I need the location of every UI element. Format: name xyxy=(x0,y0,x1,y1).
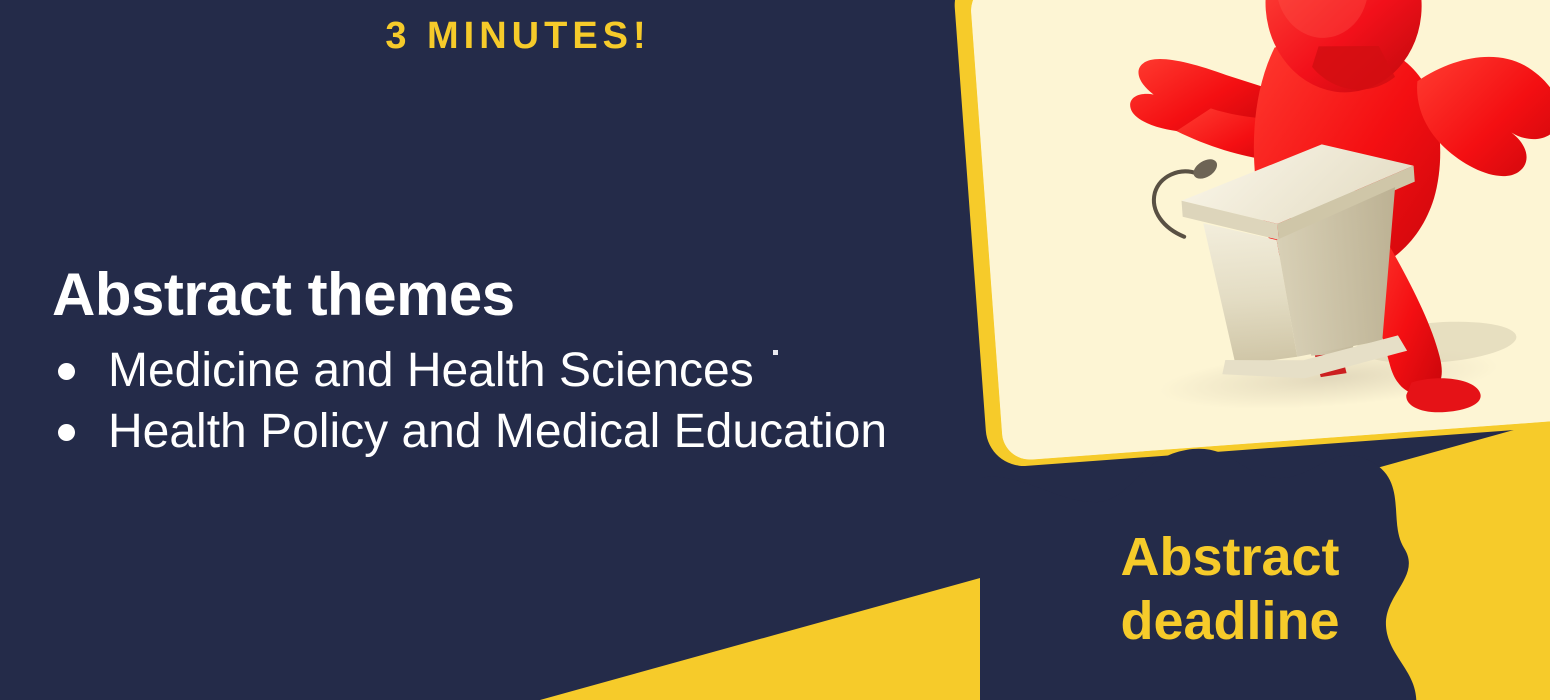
abstract-themes-list: Medicine and Health Sciences Health Poli… xyxy=(52,342,972,461)
abstract-deadline-text: Abstract deadline xyxy=(1030,526,1430,653)
abstract-deadline-badge: Abstract deadline xyxy=(980,418,1480,700)
list-item: Medicine and Health Sciences xyxy=(52,342,972,401)
bullet-dot-icon xyxy=(58,363,75,380)
speaker-photo-card xyxy=(952,0,1550,469)
list-item-label: Medicine and Health Sciences xyxy=(108,344,754,397)
abstract-themes-title: Abstract themes xyxy=(52,262,972,328)
speaker-at-podium-illustration xyxy=(969,0,1550,462)
deadline-line-2: deadline xyxy=(1030,590,1430,654)
deadline-line-1: Abstract xyxy=(1030,526,1430,590)
headline-3-minutes: 3 MINUTES! xyxy=(0,16,1036,58)
abstract-themes-block: Abstract themes Medicine and Health Scie… xyxy=(52,262,972,463)
slide-canvas: 3 MINUTES! xyxy=(0,0,1550,700)
speck-artifact xyxy=(773,350,778,355)
list-item: Health Policy and Medical Education xyxy=(52,403,972,462)
list-item-label: Health Policy and Medical Education xyxy=(108,405,887,458)
bullet-dot-icon xyxy=(58,424,75,441)
speaker-photo-card-inner xyxy=(969,0,1550,462)
